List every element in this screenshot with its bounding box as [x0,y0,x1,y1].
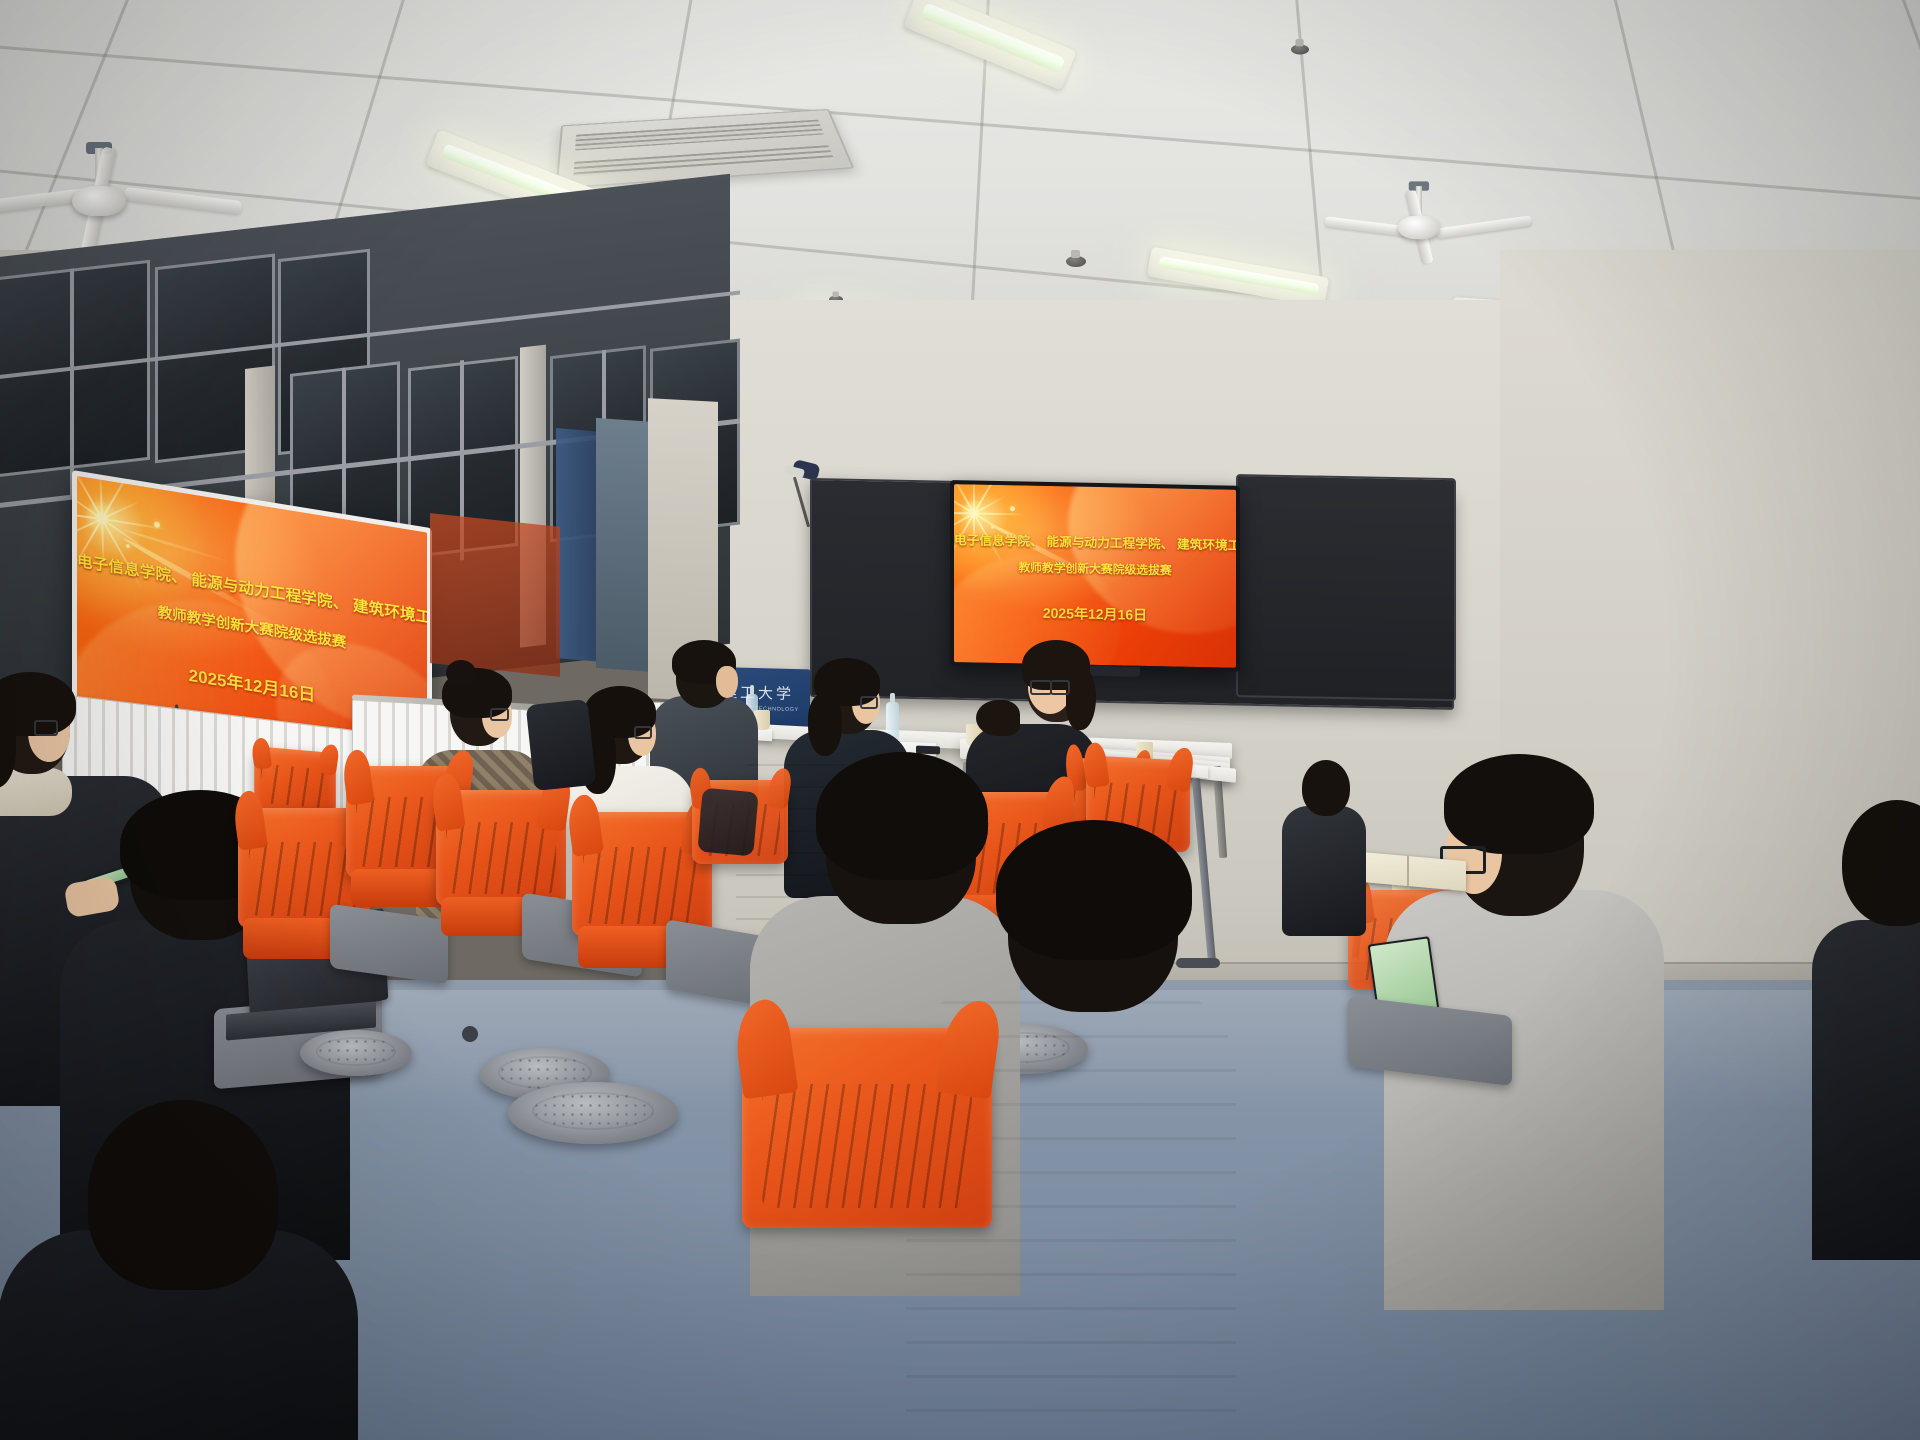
chair-row2-b[interactable] [572,812,712,936]
backpack-on-chair [526,699,597,791]
chair-row2-a[interactable] [436,790,566,906]
window-frame-filler [596,418,656,672]
chair-base-3 [508,1082,678,1144]
smoke-detector-1 [1066,256,1086,267]
foreground-glasses-icon [34,720,58,736]
judge-glasses-icon [860,696,878,709]
chair-caster-1 [462,1026,478,1042]
chair-row1-a[interactable] [254,746,336,816]
chair-base-1 [300,1030,412,1076]
attendee-glasses-icon [490,708,509,721]
classroom-photo: 电子信息学院、 能源与动力工程学院、 建筑环境工程学院 教师教学创新大赛院级选拔… [0,0,1920,1440]
blackboard-panel-right [1236,474,1456,701]
slide-right: 电子信息学院、 能源与动力工程学院、 建筑环境工程学院 教师教学创新大赛院级选拔… [954,484,1236,668]
reflected-poster [430,513,560,677]
smoke-detector-4 [1291,45,1309,55]
attendee-glasses-icon-2 [634,726,652,739]
display-right[interactable]: 电子信息学院、 能源与动力工程学院、 建筑环境工程学院 教师教学创新大赛院级选拔… [950,480,1240,672]
ceiling-fan-3 [1418,186,1419,187]
presenter-glasses-icon-2 [1050,680,1070,695]
presenter-hair-side [976,700,1020,736]
presenter-glasses-icon [1030,680,1052,695]
presenter-hair-back [1066,666,1096,730]
side-table-foot [1176,958,1220,968]
chair-foreground-center[interactable] [742,1028,992,1228]
ceiling-fan-1 [98,148,99,149]
bag-2 [697,788,758,857]
